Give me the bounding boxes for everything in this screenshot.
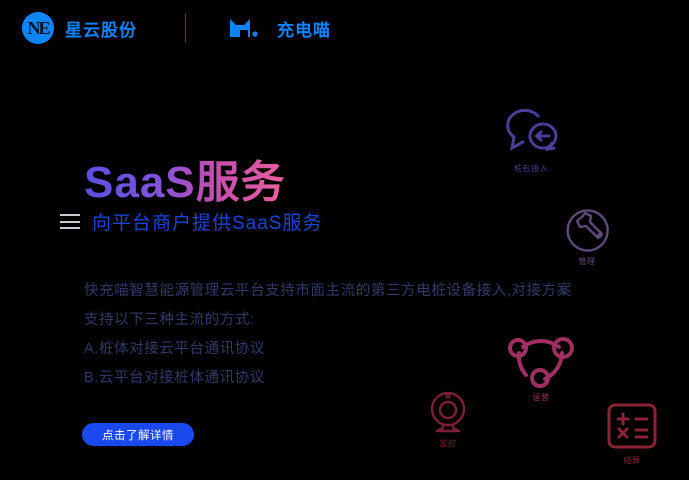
feature-operate-label: 运营 [533, 392, 550, 403]
vertical-divider [185, 14, 186, 42]
calculator-icon [606, 402, 658, 452]
network-share-icon [505, 327, 577, 389]
feature-manage-label: 管理 [579, 256, 596, 267]
feature-access: 桩包接入 [500, 104, 562, 174]
brand-primary[interactable]: NE 星云股份 [22, 12, 137, 44]
camera-monitor-icon [424, 389, 472, 435]
feature-access-label: 桩包接入 [514, 163, 548, 174]
brand-secondary[interactable]: 充电喵 [228, 16, 331, 41]
feature-manage: 管理 [563, 205, 611, 267]
brand-primary-name: 星云股份 [65, 16, 137, 41]
brand-secondary-name: 充电喵 [277, 16, 331, 41]
feature-monitor-label: 监控 [440, 438, 457, 449]
hamburger-icon [60, 214, 80, 229]
page-title: SaaS服务 [84, 158, 286, 209]
page-subtitle: 向平台商户提供SaaS服务 [92, 208, 322, 235]
page-header: NE 星云股份 充电喵 [0, 0, 689, 56]
page-root: NE 星云股份 充电喵 SaaS服务 向平台商户提供SaaS服务 快充喵智慧能源… [0, 0, 689, 480]
cat-face-logo-icon [228, 16, 268, 40]
feature-operate: 运营 [505, 327, 577, 403]
feature-settle-label: 结算 [624, 455, 641, 466]
feature-monitor: 监控 [424, 389, 472, 449]
wrench-tool-icon [563, 205, 611, 253]
nebula-circle-logo-icon: NE [22, 12, 54, 44]
logo-monogram: NE [27, 19, 48, 37]
feature-settle: 结算 [606, 402, 658, 466]
chat-bubbles-arrow-icon [500, 104, 562, 160]
subtitle-row: 向平台商户提供SaaS服务 [60, 208, 322, 235]
learn-more-button[interactable]: 点击了解详情 [82, 423, 194, 446]
